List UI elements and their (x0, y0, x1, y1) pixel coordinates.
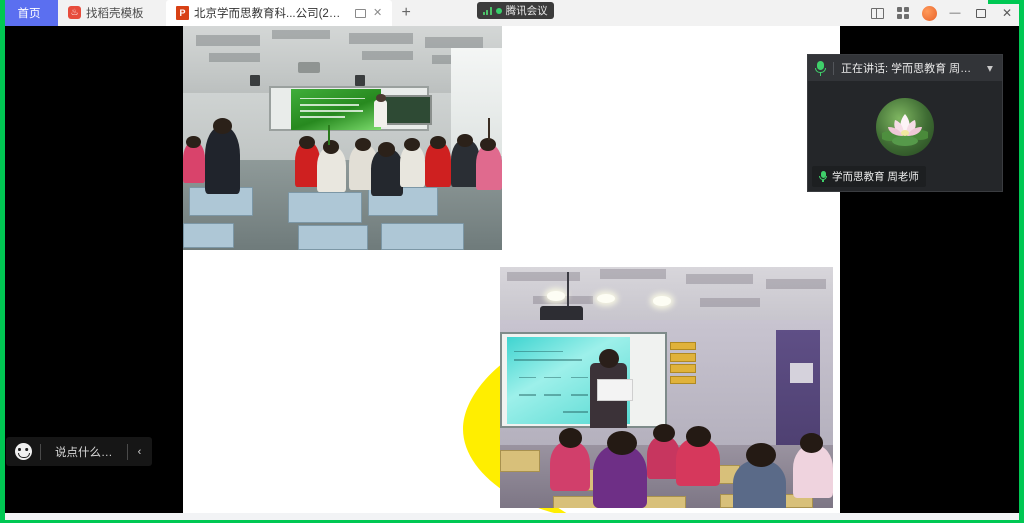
grid-view-icon[interactable] (890, 0, 916, 26)
new-tab-button[interactable]: + (392, 0, 420, 26)
tab-docer-templates[interactable]: ♨ 找稻壳模板 (58, 0, 166, 26)
signal-bars-icon (483, 7, 492, 15)
powerpoint-icon: P (176, 6, 189, 20)
tab-home[interactable]: 首页 (0, 0, 58, 26)
present-monitor-icon[interactable] (355, 9, 366, 18)
collapse-comment-label: ‹ (138, 446, 142, 458)
smiley-face-icon[interactable] (6, 437, 40, 466)
participant-name-badge: 学而思教育 周老师 (812, 166, 926, 187)
tab-home-label: 首页 (18, 5, 41, 21)
tab-document-label: 北京学而思教育科...公司(2)(1) (194, 5, 344, 21)
classroom-photo-bottom-right (500, 267, 833, 508)
meeting-participant-panel[interactable]: 正在讲话: 学而思教育 周老师; ▲ (807, 54, 1003, 192)
tencent-meeting-indicator[interactable]: 腾讯会议 (477, 2, 554, 19)
avatar[interactable] (916, 0, 942, 26)
comment-bar[interactable]: 说点什么… ‹ (6, 437, 152, 466)
presentation-share-screen: 首页 ♨ 找稻壳模板 P 北京学而思教育科...公司(2)(1) ✕ + (0, 0, 1024, 523)
participant-name: 学而思教育 周老师 (832, 169, 919, 184)
screen-share-border-left (0, 0, 5, 523)
lotus-flower-icon (882, 108, 928, 148)
recording-dot-icon (496, 8, 502, 14)
meeting-video-tile[interactable]: 学而思教育 周老师 (808, 81, 1002, 191)
comment-input[interactable]: 说点什么… (41, 444, 127, 460)
screen-share-border-right (1019, 0, 1024, 523)
split-view-icon[interactable] (864, 0, 890, 26)
new-tab-label: + (402, 4, 411, 22)
microphone-icon (815, 61, 826, 76)
chevron-left-icon[interactable]: ‹ (128, 437, 152, 466)
meeting-panel-header: 正在讲话: 学而思教育 周老师; ▲ (808, 55, 1002, 81)
tab-close-icon[interactable]: ✕ (373, 8, 382, 19)
docer-flame-icon: ♨ (68, 6, 81, 20)
tab-document[interactable]: P 北京学而思教育科...公司(2)(1) ✕ (166, 0, 392, 26)
chevron-collapse-icon[interactable]: ▲ (985, 63, 995, 74)
avatar (876, 98, 934, 156)
tab-docer-label: 找稻壳模板 (86, 5, 144, 21)
classroom-photo-top-left (183, 26, 502, 250)
minimize-button[interactable] (942, 0, 968, 26)
speaking-now-label: 正在讲话: 学而思教育 周老师; (841, 60, 978, 76)
header-divider (833, 62, 834, 75)
slide-surface (183, 26, 840, 513)
screen-share-border-top (988, 0, 1024, 4)
microphone-icon (819, 171, 827, 182)
tencent-meeting-label: 腾讯会议 (506, 3, 548, 18)
